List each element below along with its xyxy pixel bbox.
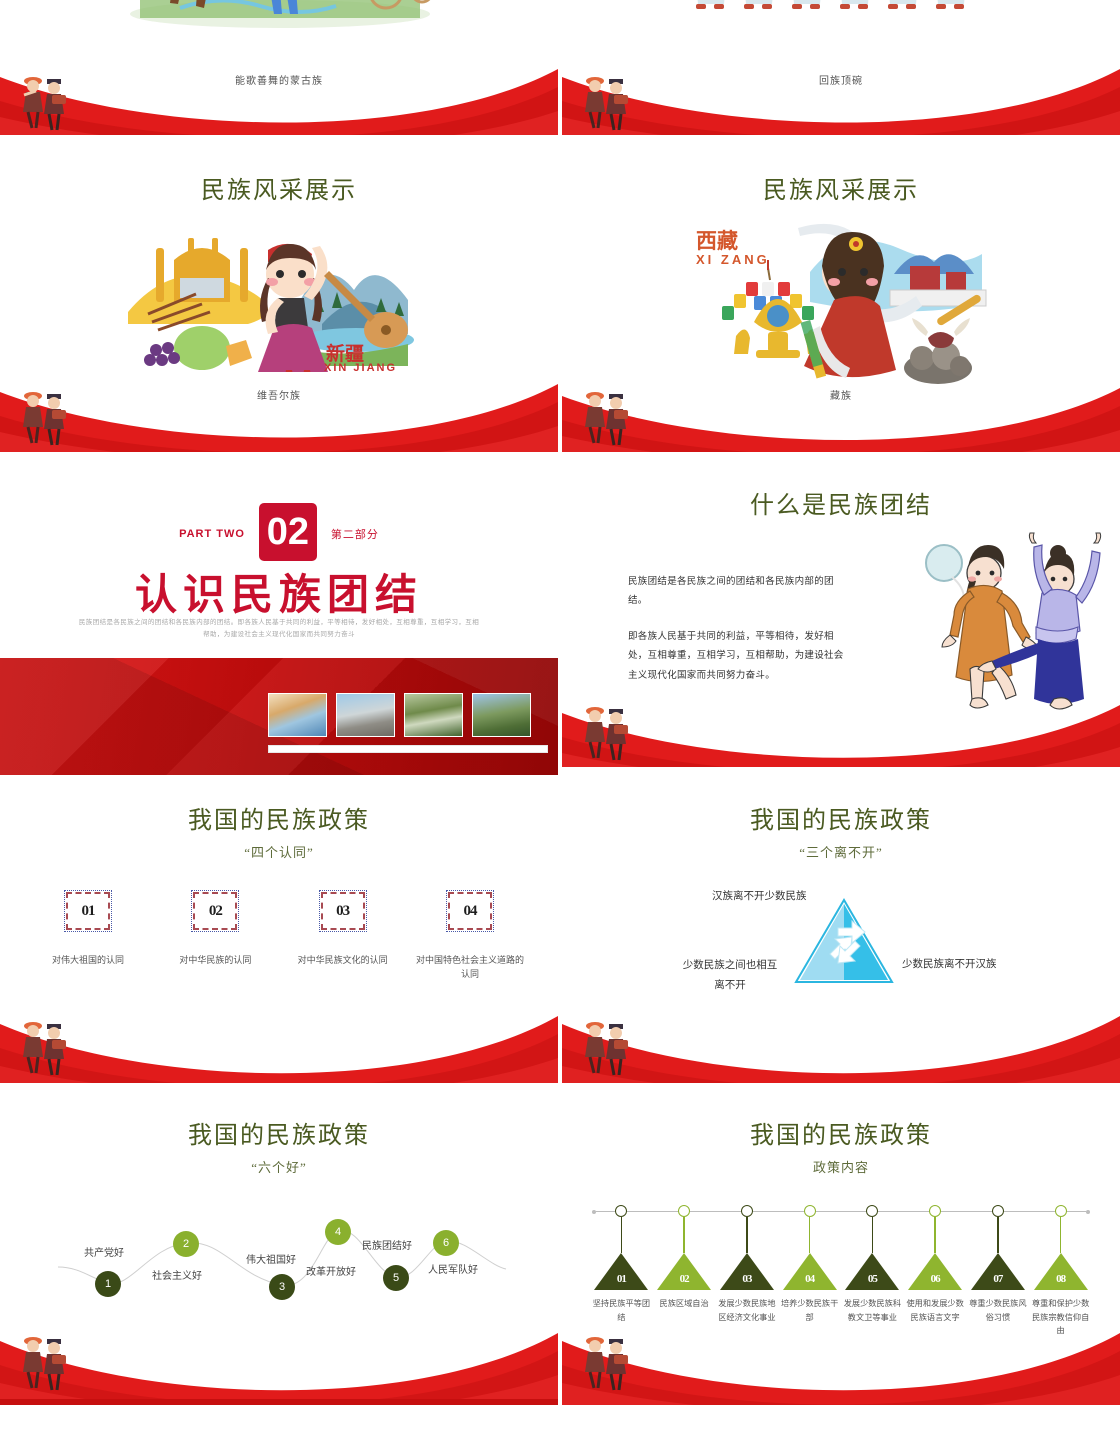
svg-text:XIN JIANG: XIN JIANG [324, 362, 397, 372]
six-node-number: 6 [443, 1237, 449, 1249]
what-is-body: 民族团结是各民族之间的团结和各民族内部的团结。 即各族人民基于共同的利益，平等相… [628, 573, 848, 686]
timeline-marker [615, 1205, 627, 1217]
policy-triangle: 01 [594, 1253, 648, 1290]
six-node-number: 2 [183, 1238, 189, 1250]
slide-six-good[interactable]: 我国的民族政策 “六个好” 1 2 3 4 5 6 共产党好 社会主义好 伟大祖… [0, 1095, 558, 1405]
recognition-number: 02 [193, 892, 237, 930]
policy-timeline: 01 坚持民族平等团结 02 民族区域自治 03 [590, 1203, 1092, 1373]
inseparable-top-label: 汉族离不开少数民族 [712, 888, 807, 903]
policy-label: 尊重少数民族风俗习惯 [967, 1297, 1030, 1324]
musicians-icon [578, 1016, 634, 1078]
recognition-label: 对中华民族的认同 [161, 953, 269, 967]
slide-four-recognitions[interactable]: 我国的民族政策 “四个认同” 01 对伟大祖国的认同 02 对中华民族的认同 0… [0, 780, 558, 1090]
policy-number: 04 [800, 1273, 820, 1285]
policy-label: 使用和发展少数民族语言文字 [904, 1297, 967, 1324]
slide-title: 我国的民族政策 [562, 800, 1120, 835]
timeline-marker [992, 1205, 1004, 1217]
part-number-badge: 02 [259, 503, 317, 561]
six-label-3: 伟大祖国好 [246, 1251, 296, 1266]
policy-label: 培养少数民族干部 [778, 1297, 841, 1324]
recognition-number: 04 [448, 892, 492, 930]
policy-number: 03 [737, 1273, 757, 1285]
section-part-line: PART TWO 02 第二部分 [0, 507, 558, 561]
slide-tibetan[interactable]: 民族风采展示 [562, 150, 1120, 460]
slide-subtitle: “六个好” [0, 1157, 558, 1176]
policy-label: 民族区域自治 [653, 1297, 716, 1311]
six-node-number: 4 [335, 1226, 341, 1238]
recycle-triangle-icon [794, 898, 894, 986]
policy-item-03[interactable]: 03 发展少数民族地区经济文化事业 [716, 1203, 779, 1338]
timeline-marker [804, 1205, 816, 1217]
policy-label: 发展少数民族地区经济文化事业 [716, 1297, 779, 1324]
great-wall-thumb-3[interactable] [404, 693, 463, 737]
timeline-marker [866, 1205, 878, 1217]
policy-triangle: 08 [1034, 1253, 1088, 1290]
policy-item-07[interactable]: 07 尊重少数民族风俗习惯 [967, 1203, 1030, 1338]
six-node-4[interactable]: 4 [325, 1219, 351, 1245]
great-wall-thumb-2[interactable] [336, 693, 395, 737]
six-node-number: 5 [393, 1272, 399, 1284]
recognition-label: 对伟大祖国的认同 [34, 953, 142, 967]
slide-title: 民族风采展示 [0, 170, 558, 205]
musicians-icon [16, 1331, 72, 1393]
policy-number: 05 [862, 1273, 882, 1285]
great-wall-thumb-1[interactable] [268, 693, 327, 737]
recognition-item-01[interactable]: 01 对伟大祖国的认同 [34, 892, 142, 982]
slide-caption: 能歌善舞的蒙古族 [0, 72, 558, 87]
white-accent-bar [268, 745, 548, 753]
slide-caption: 回族顶碗 [562, 72, 1120, 87]
six-node-3[interactable]: 3 [269, 1274, 295, 1300]
six-label-2: 社会主义好 [152, 1267, 202, 1282]
six-node-number: 3 [279, 1281, 285, 1293]
part-cn-label: 第二部分 [331, 526, 379, 542]
slide-title: 我国的民族政策 [562, 1115, 1120, 1150]
policy-triangle: 07 [971, 1253, 1025, 1290]
slide-caption: 维吾尔族 [0, 387, 558, 402]
slide-hui[interactable]: 回族顶碗 [562, 0, 1120, 145]
timeline-stem [1060, 1217, 1061, 1253]
policy-item-01[interactable]: 01 坚持民族平等团结 [590, 1203, 653, 1338]
six-node-6[interactable]: 6 [433, 1230, 459, 1256]
timeline-stem [621, 1217, 622, 1253]
six-label-5: 民族团结好 [362, 1237, 412, 1252]
slide-title: 什么是民族团结 [562, 485, 1120, 520]
timeline-marker [741, 1205, 753, 1217]
six-node-5[interactable]: 5 [383, 1265, 409, 1291]
timeline-marker [929, 1205, 941, 1217]
section-description: 民族团结是各民族之间的团结和各民族内部的团结。即各族人民基于共同的利益，平等相待… [78, 617, 480, 642]
recognition-item-02[interactable]: 02 对中华民族的认同 [161, 892, 269, 982]
policy-label: 尊重和保护少数民族宗教信仰自由 [1029, 1297, 1092, 1338]
inseparable-left-label: 少数民族之间也相互离不开 [680, 956, 780, 996]
musicians-icon [578, 701, 634, 763]
policy-item-05[interactable]: 05 发展少数民族科教文卫等事业 [841, 1203, 904, 1338]
recognition-item-04[interactable]: 04 对中国特色社会主义道路的认同 [416, 892, 524, 982]
slide-subtitle: “四个认同” [0, 842, 558, 861]
policy-number: 01 [611, 1273, 631, 1285]
part-en-label: PART TWO [179, 528, 245, 540]
timeline-stem [746, 1217, 747, 1253]
policy-triangle: 06 [908, 1253, 962, 1290]
xinjiang-illustration: 新疆 XIN JIANG [118, 212, 438, 372]
policy-item-04[interactable]: 04 培养少数民族干部 [778, 1203, 841, 1338]
slide-subtitle: 政策内容 [562, 1157, 1120, 1176]
six-label-1: 共产党好 [84, 1244, 124, 1259]
six-good-chart: 1 2 3 4 5 6 共产党好 社会主义好 伟大祖国好 改革开放好 民族团结好… [0, 1191, 558, 1321]
inseparable-right-label: 少数民族离不开汉族 [902, 956, 997, 971]
recognition-label: 对中华民族文化的认同 [289, 953, 397, 967]
recognition-number: 03 [321, 892, 365, 930]
hui-dancers-illustration [690, 0, 990, 30]
slide-title: 民族风采展示 [562, 170, 1120, 205]
svg-text:西藏: 西藏 [696, 229, 738, 253]
policy-triangle: 05 [845, 1253, 899, 1290]
slide-caption: 藏族 [562, 387, 1120, 402]
tibet-illustration: 西藏 XI ZANG [684, 210, 994, 385]
policy-item-02[interactable]: 02 民族区域自治 [653, 1203, 716, 1338]
slide-title: 我国的民族政策 [0, 1115, 558, 1150]
red-ribbon [0, 970, 558, 1090]
what-is-paragraph-1: 民族团结是各民族之间的团结和各民族内部的团结。 [628, 573, 848, 612]
great-wall-thumb-4[interactable] [472, 693, 531, 737]
policy-number: 02 [674, 1273, 694, 1285]
slide-stories[interactable]: 民族团结小故事 [562, 1410, 1120, 1440]
slide-section-two[interactable]: PART TWO 02 第二部分 认识民族团结 民族团结是各民族之间的团结和各民… [0, 465, 558, 775]
three-inseparable-diagram: 汉族离不开少数民族 少数民族之间也相互离不开 少数民族离不开汉族 [562, 888, 1120, 1018]
thumbnail-strip [268, 693, 531, 737]
slide-policy-content[interactable]: 我国的民族政策 政策内容 01 坚持民族平等团结 02 [562, 1095, 1120, 1405]
slide-deck: 能歌善舞的蒙古族 [0, 0, 1120, 1440]
musicians-icon [16, 1016, 72, 1078]
recognition-item-03[interactable]: 03 对中华民族文化的认同 [289, 892, 397, 982]
six-node-1[interactable]: 1 [95, 1271, 121, 1297]
policy-label: 发展少数民族科教文卫等事业 [841, 1297, 904, 1324]
policy-number: 06 [925, 1273, 945, 1285]
timeline-stem [872, 1217, 873, 1253]
timeline-marker [678, 1205, 690, 1217]
six-label-6: 人民军队好 [428, 1261, 478, 1276]
slide-blank-bottom-left[interactable] [0, 1410, 558, 1440]
policy-triangle: 03 [720, 1253, 774, 1290]
policy-item-06[interactable]: 06 使用和发展少数民族语言文字 [904, 1203, 967, 1338]
slide-subtitle: “三个离不开” [562, 842, 1120, 861]
four-recognitions-row: 01 对伟大祖国的认同 02 对中华民族的认同 03 对中华民族文化的认同 04… [34, 892, 524, 982]
policy-number: 08 [1051, 1273, 1071, 1285]
recognition-number: 01 [66, 892, 110, 930]
slide-three-inseparable[interactable]: 我国的民族政策 “三个离不开” 汉族离不开少数民族 少数民族之间也相互离不开 少… [562, 780, 1120, 1090]
six-node-2[interactable]: 2 [173, 1231, 199, 1257]
policy-number: 07 [988, 1273, 1008, 1285]
timeline-stem [934, 1217, 935, 1253]
slide-uyghur[interactable]: 民族风采展示 [0, 150, 558, 460]
what-is-paragraph-2: 即各族人民基于共同的利益，平等相待，发好相处，互相尊重，互相学习，互相帮助，为建… [628, 628, 848, 686]
policy-triangle: 04 [783, 1253, 837, 1290]
mongolian-illustration [120, 0, 440, 32]
slide-what-is[interactable]: 什么是民族团结 民族团结是各民族之间的团结和各民族内部的团结。 即各族人民基于共… [562, 465, 1120, 775]
six-node-number: 1 [105, 1278, 111, 1290]
timeline-stem [683, 1217, 684, 1253]
section-title: 认识民族团结 [0, 561, 558, 622]
policy-label: 坚持民族平等团结 [590, 1297, 653, 1324]
timeline-stem [809, 1217, 810, 1253]
timeline-marker [1055, 1205, 1067, 1217]
svg-text:XI ZANG: XI ZANG [696, 252, 770, 267]
slide-mongolian[interactable]: 能歌善舞的蒙古族 [0, 0, 558, 145]
slide-title: 我国的民族政策 [0, 800, 558, 835]
policy-items-row: 01 坚持民族平等团结 02 民族区域自治 03 [590, 1203, 1092, 1338]
six-label-4: 改革开放好 [306, 1263, 356, 1278]
recognition-label: 对中国特色社会主义道路的认同 [416, 953, 524, 982]
policy-item-08[interactable]: 08 尊重和保护少数民族宗教信仰自由 [1029, 1203, 1092, 1338]
policy-triangle: 02 [657, 1253, 711, 1290]
timeline-stem [997, 1217, 998, 1253]
two-dancers-illustration [906, 529, 1096, 709]
